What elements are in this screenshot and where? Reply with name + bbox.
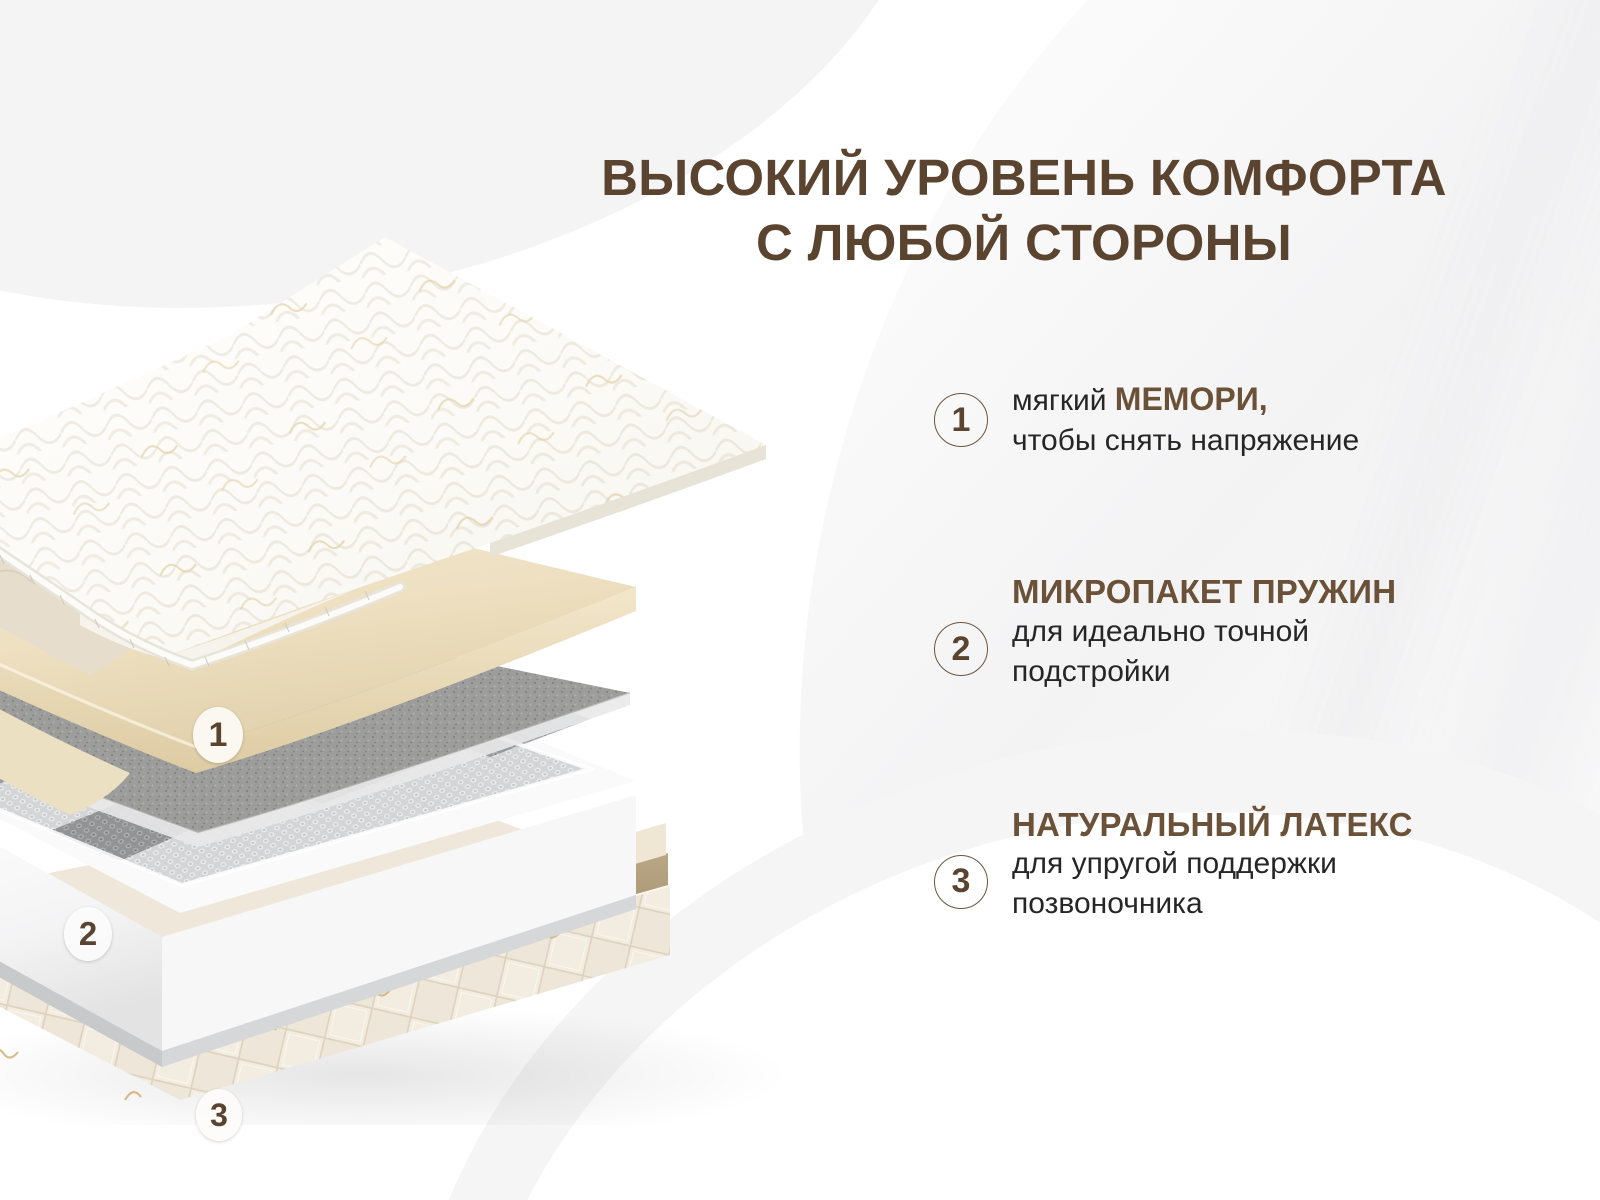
feature-3-line-1: для упругой поддержки	[1012, 844, 1413, 884]
feature-1-line-1: мягкий МЕМОРИ,	[1012, 378, 1359, 421]
feature-2-line-1: для идеально точной	[1012, 612, 1396, 652]
feature-text-3: НАТУРАЛЬНЫЙ ЛАТЕКС для упругой поддержки…	[1012, 806, 1413, 925]
feature-list: 1 мягкий МЕМОРИ, чтобы снять напряжение …	[934, 380, 1534, 924]
feature-badge-3: 3	[934, 855, 988, 909]
feature-item-1: 1 мягкий МЕМОРИ, чтобы снять напряжение	[934, 380, 1534, 461]
feature-2-line-2: подстройки	[1012, 652, 1396, 692]
feature-1-strong: МЕМОРИ,	[1115, 381, 1268, 417]
mattress-callout-3: 3	[196, 1089, 242, 1141]
feature-badge-2: 2	[934, 622, 988, 676]
feature-2-heading: МИКРОПАКЕТ ПРУЖИН	[1012, 573, 1396, 612]
feature-3-heading: НАТУРАЛЬНЫЙ ЛАТЕКС	[1012, 806, 1413, 845]
feature-3-line-2: позвоночника	[1012, 884, 1413, 924]
feature-text-2: МИКРОПАКЕТ ПРУЖИН для идеально точной по…	[1012, 573, 1396, 692]
feature-item-2: 2 МИКРОПАКЕТ ПРУЖИН для идеально точной …	[934, 607, 1534, 692]
feature-1-plain: мягкий	[1012, 384, 1115, 417]
feature-item-3: 3 НАТУРАЛЬНЫЙ ЛАТЕКС для упругой поддерж…	[934, 840, 1534, 925]
feature-1-line-2: чтобы снять напряжение	[1012, 421, 1359, 461]
mattress-cutaway-illustration: 1 2 3	[0, 195, 890, 1125]
mattress-callout-2: 2	[64, 907, 112, 961]
mattress-callout-1: 1	[193, 707, 243, 763]
feature-text-1: мягкий МЕМОРИ, чтобы снять напряжение	[1012, 378, 1359, 461]
feature-badge-1: 1	[934, 393, 988, 447]
